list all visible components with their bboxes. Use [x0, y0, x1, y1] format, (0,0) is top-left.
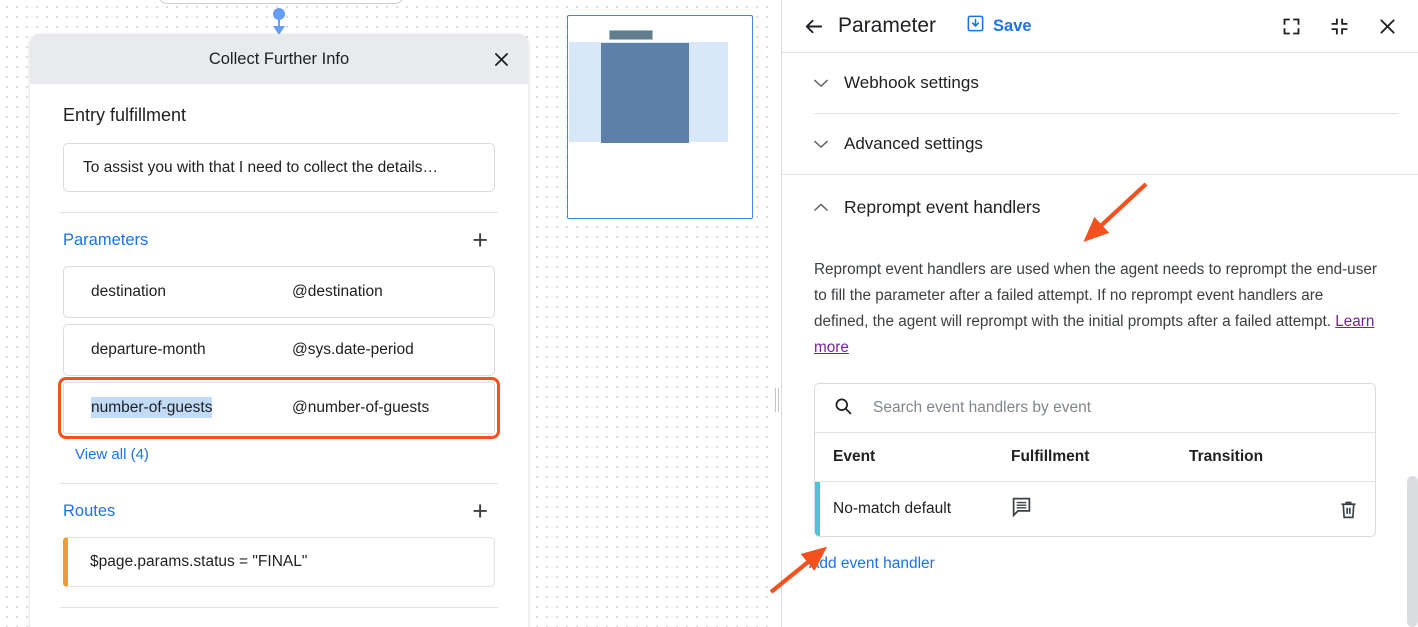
close-icon[interactable] — [1374, 13, 1400, 39]
routes-section-header: Routes + — [48, 484, 510, 525]
app-root: Collect Further Info Entry fulfillment T… — [0, 0, 1418, 627]
event-handlers-table-header: Event Fulfillment Transition — [815, 433, 1375, 482]
thumbnail-block — [601, 43, 689, 143]
trash-icon[interactable] — [1338, 499, 1359, 520]
panel-splitter[interactable] — [774, 0, 781, 627]
search-icon — [833, 396, 853, 421]
splitter-grip-icon[interactable] — [775, 388, 780, 412]
reprompt-description: Reprompt event handlers are used when th… — [782, 239, 1418, 361]
parameter-name: departure-month — [64, 341, 292, 359]
previous-node-card[interactable] — [158, 0, 404, 4]
parameters-section-header: Parameters + — [48, 213, 510, 254]
entry-fulfillment-message[interactable]: To assist you with that I need to collec… — [63, 143, 495, 192]
flow-node-thumbnail[interactable] — [567, 15, 753, 219]
section-advanced-settings[interactable]: Advanced settings — [782, 114, 1418, 174]
expand-icon[interactable] — [1278, 13, 1304, 39]
parameter-name: number-of-guests — [64, 399, 292, 417]
parameters-heading[interactable]: Parameters — [63, 231, 148, 250]
column-header-transition: Transition — [1189, 448, 1375, 466]
divider — [60, 607, 498, 608]
view-all-parameters-link[interactable]: View all (4) — [75, 446, 510, 463]
section-webhook-settings[interactable]: Webhook settings — [782, 53, 1418, 113]
route-condition: $page.params.status = "FINAL" — [90, 553, 307, 571]
section-title: Reprompt event handlers — [844, 197, 1041, 218]
save-download-icon — [966, 14, 985, 38]
chevron-up-icon — [814, 203, 828, 212]
scrollbar-thumb[interactable] — [1407, 476, 1418, 627]
parameter-type: @destination — [292, 283, 383, 301]
section-reprompt-event-handlers[interactable]: Reprompt event handlers — [782, 175, 1418, 239]
node-card: Collect Further Info Entry fulfillment T… — [30, 34, 528, 627]
parameter-name: destination — [64, 283, 292, 301]
plus-icon[interactable]: + — [468, 498, 492, 525]
event-handlers-search[interactable] — [815, 384, 1375, 433]
entry-fulfillment-heading: Entry fulfillment — [48, 84, 510, 126]
row-status-bar — [815, 482, 820, 536]
node-card-title: Collect Further Info — [209, 50, 349, 69]
column-header-event: Event — [833, 448, 1011, 466]
chevron-down-icon — [814, 140, 828, 149]
save-button-label: Save — [993, 17, 1032, 36]
table-row[interactable]: No-match default — [815, 482, 1375, 536]
parameters-list: destination @destination departure-month… — [63, 266, 495, 434]
add-event-handler-button[interactable]: Add event handler — [809, 555, 935, 573]
save-button[interactable]: Save — [966, 14, 1032, 38]
parameter-name-selected-text: number-of-guests — [91, 397, 212, 418]
parameter-type: @sys.date-period — [292, 341, 414, 359]
event-handlers-card: Event Fulfillment Transition No-match de… — [814, 383, 1376, 537]
reprompt-description-text: Reprompt event handlers are used when th… — [814, 261, 1377, 330]
table-row-highlighted[interactable]: number-of-guests @number-of-guests — [63, 382, 495, 434]
route-row[interactable]: $page.params.status = "FINAL" — [63, 537, 495, 587]
node-card-header: Collect Further Info — [30, 34, 528, 84]
parameter-panel-header: Parameter Save — [782, 0, 1418, 53]
section-title: Webhook settings — [844, 73, 979, 93]
section-title: Advanced settings — [844, 134, 983, 154]
table-row[interactable]: departure-month @sys.date-period — [63, 324, 495, 376]
node-card-body: Entry fulfillment To assist you with tha… — [30, 84, 528, 608]
flow-canvas[interactable]: Collect Further Info Entry fulfillment T… — [0, 0, 781, 627]
panel-actions — [1278, 13, 1400, 39]
parameter-panel: Parameter Save — [782, 0, 1418, 627]
arrow-left-icon[interactable] — [798, 11, 828, 41]
chevron-down-icon — [814, 79, 828, 88]
table-row[interactable]: destination @destination — [63, 266, 495, 318]
parameter-type: @number-of-guests — [292, 399, 429, 417]
close-icon[interactable] — [484, 42, 518, 76]
column-header-fulfillment: Fulfillment — [1011, 448, 1189, 466]
message-bubble-icon[interactable] — [1011, 496, 1189, 522]
page-title: Parameter — [838, 14, 936, 38]
plus-icon[interactable]: + — [468, 227, 492, 254]
thumbnail-tab — [609, 30, 653, 40]
collapse-icon[interactable] — [1326, 13, 1352, 39]
routes-heading[interactable]: Routes — [63, 502, 115, 521]
event-name: No-match default — [833, 500, 1011, 518]
search-input[interactable] — [873, 399, 1361, 417]
